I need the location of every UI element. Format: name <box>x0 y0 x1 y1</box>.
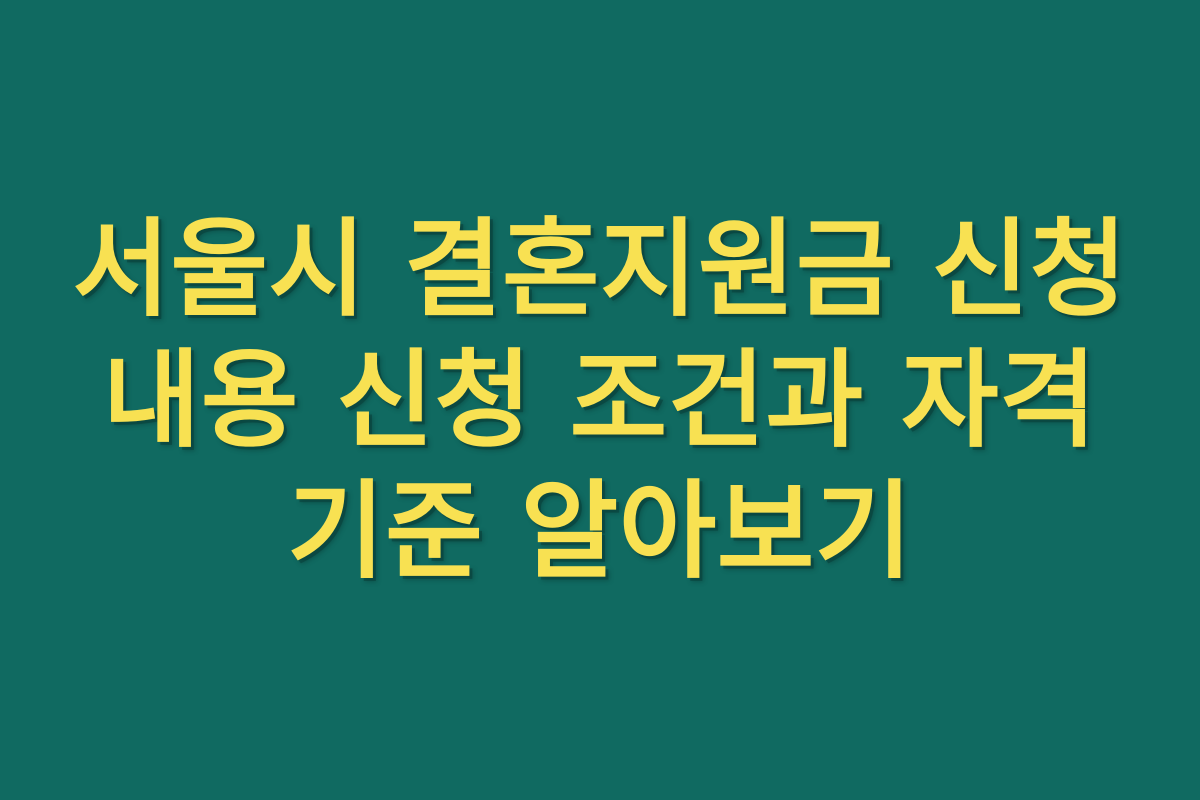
headline-line-2: 내용 신청 조건과 자격 <box>50 335 1150 466</box>
headline-block: 서울시 결혼지원금 신청 내용 신청 조건과 자격 기준 알아보기 <box>50 204 1150 597</box>
headline-line-3: 기준 알아보기 <box>50 466 1150 597</box>
banner-canvas: 서울시 결혼지원금 신청 내용 신청 조건과 자격 기준 알아보기 <box>0 0 1200 800</box>
headline-line-1: 서울시 결혼지원금 신청 <box>50 204 1150 335</box>
